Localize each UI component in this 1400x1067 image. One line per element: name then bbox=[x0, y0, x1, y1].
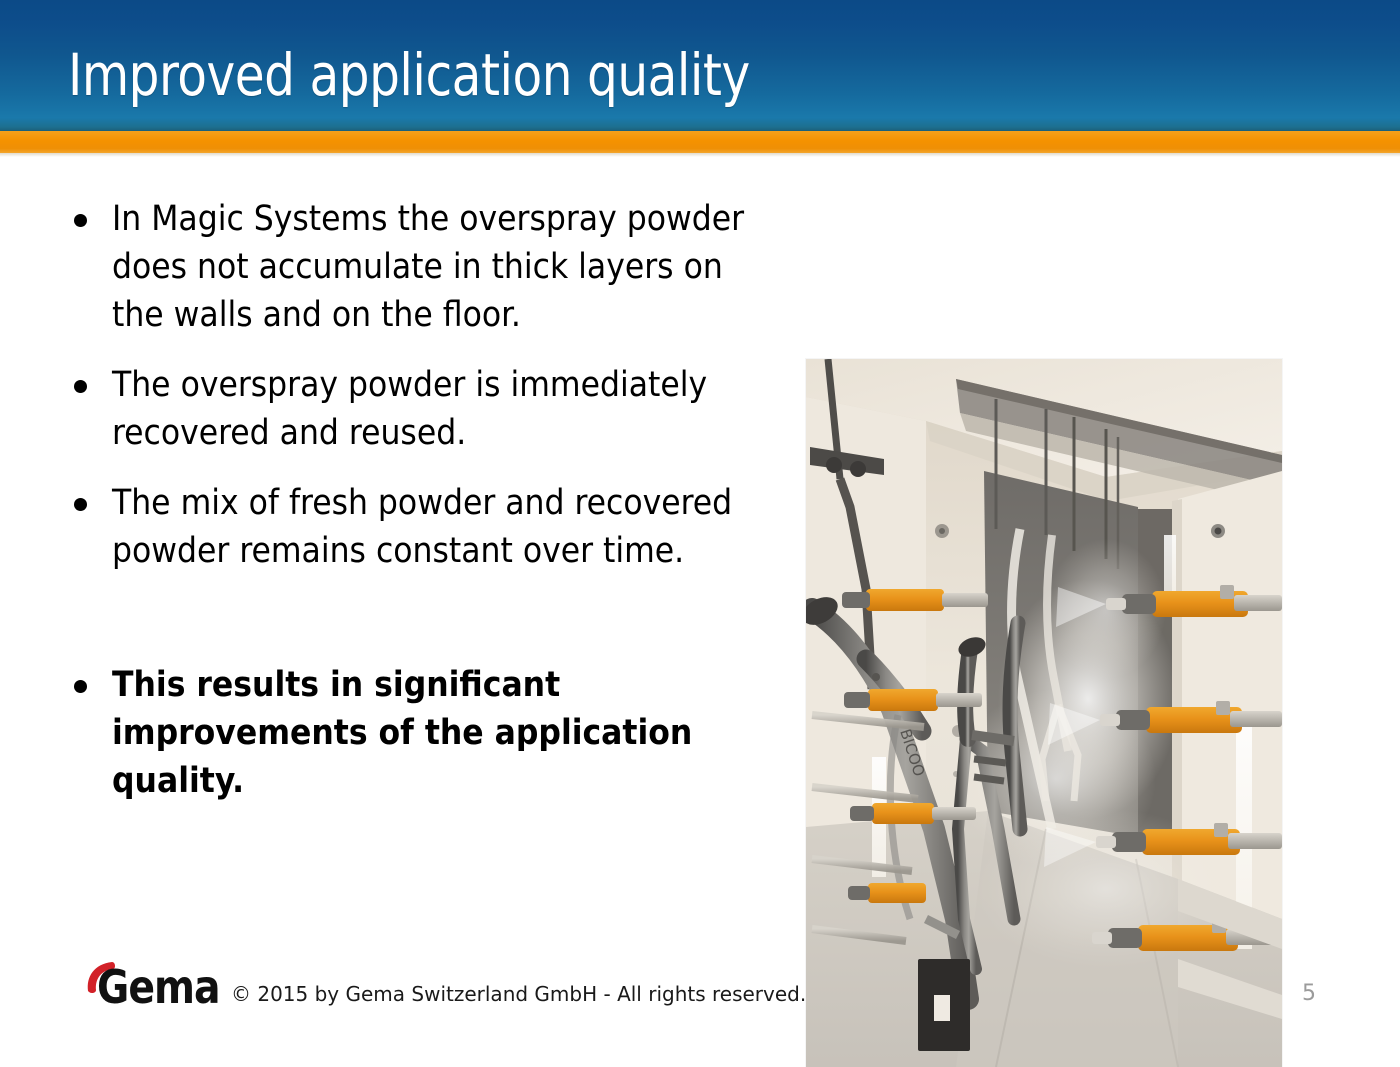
bullet-text: The mix of fresh powder and recovered po… bbox=[112, 483, 732, 571]
slide-footer: Gema © 2015 by Gema Switzerland GmbH - A… bbox=[0, 937, 1400, 1050]
header-accent-rule bbox=[0, 131, 1400, 153]
bullet-list: In Magic Systems the overspray powder do… bbox=[62, 195, 762, 827]
slide-header-band: Improved application quality bbox=[0, 0, 1400, 131]
copyright-text: © 2015 by Gema Switzerland GmbH - All ri… bbox=[231, 982, 806, 1006]
page-number: 5 bbox=[1302, 981, 1316, 1007]
list-item: The overspray powder is immediately reco… bbox=[62, 361, 762, 457]
bullet-text: In Magic Systems the overspray powder do… bbox=[112, 199, 744, 335]
bullet-dot-icon bbox=[74, 498, 87, 511]
bullet-dot-icon bbox=[74, 214, 87, 227]
bullet-dot-icon bbox=[74, 680, 87, 693]
slide-content: In Magic Systems the overspray powder do… bbox=[0, 157, 1400, 937]
bullet-text: This results in significant improvements… bbox=[112, 665, 692, 801]
list-item: The mix of fresh powder and recovered po… bbox=[62, 479, 762, 575]
bullet-text: The overspray powder is immediately reco… bbox=[112, 365, 707, 453]
bullet-dot-icon bbox=[74, 380, 87, 393]
list-item: This results in significant improvements… bbox=[62, 661, 762, 805]
page-title: Improved application quality bbox=[68, 44, 750, 106]
logo-wordmark: Gema bbox=[97, 962, 220, 1012]
list-item: In Magic Systems the overspray powder do… bbox=[62, 195, 762, 339]
gema-logo: Gema bbox=[84, 961, 216, 1015]
